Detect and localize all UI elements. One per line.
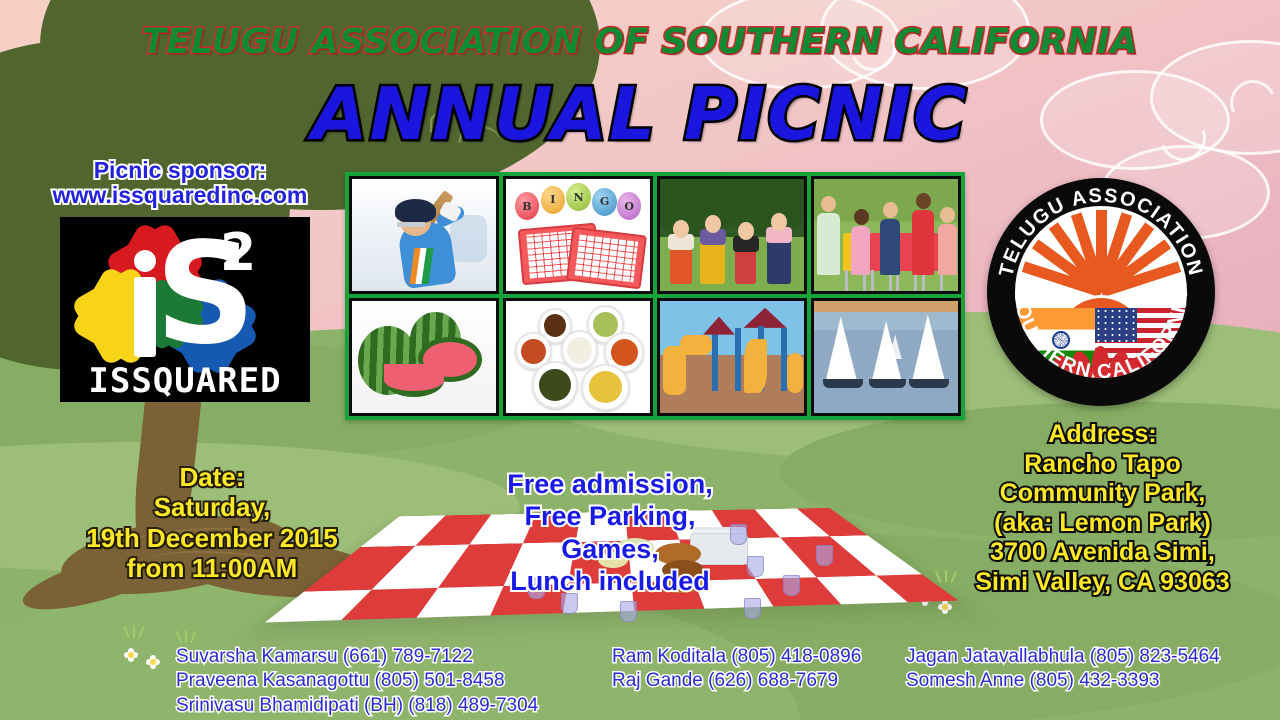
address-line: (aka: Lemon Park) [930,509,1275,539]
photo-bingo: B I N G O [503,176,653,294]
drink-cup [816,545,833,566]
photo-gallery: B I N G O [345,172,965,420]
contact-item: Ram Koditala (805) 418-0896 [612,645,861,669]
sponsor-url[interactable]: www.issquaredinc.com [25,183,335,208]
contact-item: Raj Gande (626) 688-7679 [612,669,861,693]
drink-cup [744,598,761,619]
tasc-logo: TELUGU ASSOCIATION SOUTHERN CALIFORNIA [987,178,1215,406]
address-line: Simi Valley, CA 93063 [930,568,1275,598]
address-line: Community Park, [930,479,1275,509]
drink-cup [783,575,800,596]
contacts-section: Suvarsha Kamarsu (661) 789-7122 Praveena… [0,640,1280,720]
date-line: from 11:00AM [22,553,402,583]
perks-line: Free Parking, [440,500,780,532]
date-line: 19th December 2015 [22,523,402,553]
contact-item: Srinivasu Bhamidipati (BH) (818) 489-730… [176,694,538,718]
photo-indian-food [503,298,653,416]
contact-column-2: Ram Koditala (805) 418-0896 Raj Gande (6… [612,645,861,694]
sponsor-label: Picnic sponsor: [25,158,335,183]
address-line: Address: [930,420,1275,450]
contact-item: Suvarsha Kamarsu (661) 789-7122 [176,645,538,669]
address-block: Address: Rancho Tapo Community Park, (ak… [930,420,1275,597]
photo-watermelon [349,298,499,416]
address-line: Rancho Tapo [930,450,1275,480]
perks-line: Games, [440,533,780,565]
logo-wordmark: ISSQUARED [60,361,310,401]
tasc-logo-emblem [1015,206,1187,378]
flower-decor [938,600,952,614]
logo-i-dot [134,250,156,272]
contact-column-1: Suvarsha Kamarsu (661) 789-7122 Praveena… [176,645,538,718]
perks-line: Lunch included [440,565,780,597]
perks-line: Free admission, [440,468,780,500]
photo-sack-race [657,176,807,294]
photo-sailboats [811,298,961,416]
logo-i-stem [134,277,156,357]
picnic-flyer: TELUGU ASSOCIATION OF SOUTHERN CALIFORNI… [0,0,1280,720]
photo-playground [657,298,807,416]
lotus-icon [1067,344,1135,378]
contact-item: Somesh Anne (805) 432-3393 [906,669,1220,693]
contact-item: Praveena Kasanagottu (805) 501-8458 [176,669,538,693]
contact-item: Jagan Jatavallabhula (805) 823-5464 [906,645,1220,669]
photo-cricket [349,176,499,294]
date-block: Date: Saturday, 19th December 2015 from … [22,462,402,584]
date-line: Saturday, [22,492,402,522]
contact-column-3: Jagan Jatavallabhula (805) 823-5464 Some… [906,645,1220,694]
address-line: 3700 Avenida Simi, [930,538,1275,568]
organization-title: TELUGU ASSOCIATION OF SOUTHERN CALIFORNI… [0,22,1280,62]
perks-block: Free admission, Free Parking, Games, Lun… [440,468,780,598]
page-title: ANNUAL PICNIC [0,72,1280,156]
date-line: Date: [22,462,402,492]
drink-cup [620,601,637,622]
photo-musical-chairs [811,176,961,294]
sponsor-block: Picnic sponsor: www.issquaredinc.com [25,158,335,208]
issquared-logo: S 2 ISSQUARED [60,217,310,402]
logo-superscript: 2 [220,223,256,283]
